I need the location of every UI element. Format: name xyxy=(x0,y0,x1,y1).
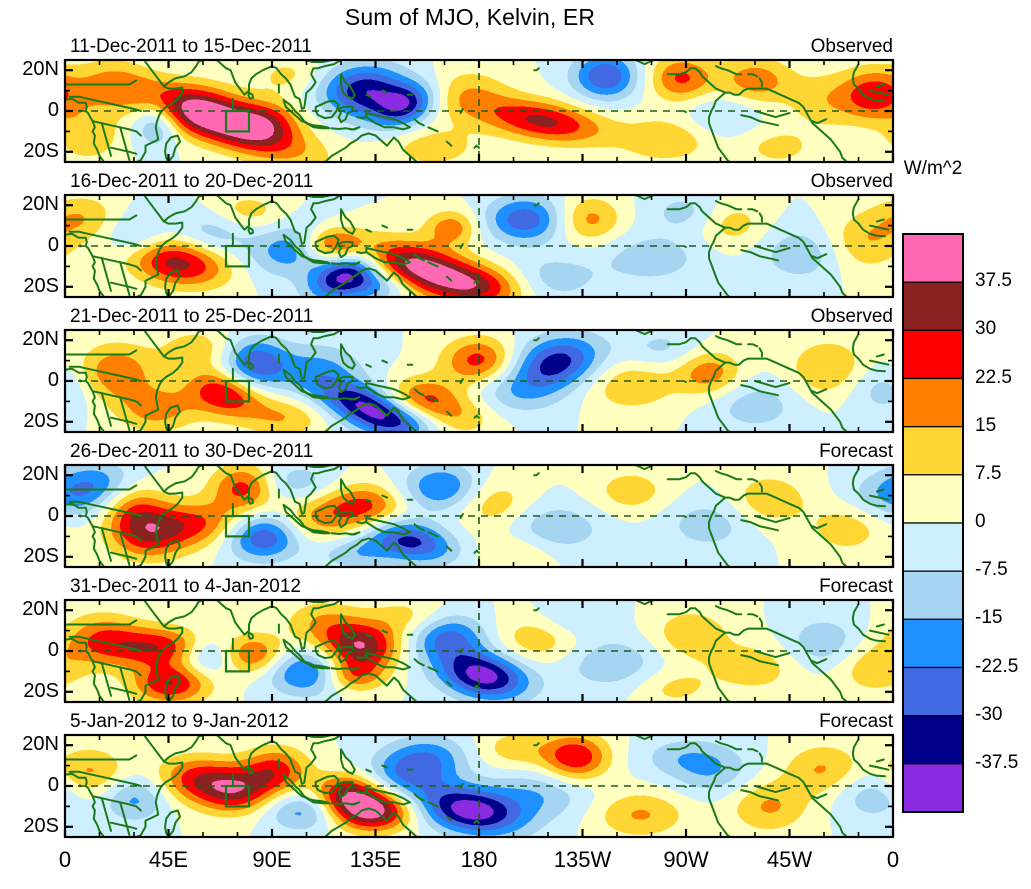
colorbar-tick-8: -22.5 xyxy=(975,657,1018,676)
panel-5-ylabel-0: 0 xyxy=(0,640,59,660)
panel-4-status: Forecast xyxy=(743,441,893,463)
colorbar-tick-3: 15 xyxy=(975,416,996,435)
colorbar-tick-5: 0 xyxy=(975,512,986,531)
panel-4-ylabel-0: 0 xyxy=(0,505,59,525)
panel-6-ylabel-20S: 20S xyxy=(0,816,59,836)
panel-3-ylabel-0: 0 xyxy=(0,370,59,390)
xaxis-label-1: 45E xyxy=(124,847,214,873)
panel-1-ylabel-0: 0 xyxy=(0,100,59,120)
panel-1-ylabel-20S: 20S xyxy=(0,141,59,161)
panel-6-ylabel-20N: 20N xyxy=(0,734,59,754)
panel-2-date-range: 16-Dec-2011 to 20-Dec-2011 xyxy=(70,171,313,193)
xaxis-label-4: 180 xyxy=(434,847,524,873)
panel-1-status: Observed xyxy=(743,36,893,58)
colorbar-tick-2: 22.5 xyxy=(975,368,1012,387)
panel-6-ylabel-0: 0 xyxy=(0,775,59,795)
colorbar-tick-9: -30 xyxy=(975,705,1002,724)
panel-3-status: Observed xyxy=(743,306,893,328)
panel-2-ylabel-0: 0 xyxy=(0,235,59,255)
colorbar-tick-0: 37.5 xyxy=(975,271,1012,290)
panel-5-ylabel-20N: 20N xyxy=(0,599,59,619)
xaxis-label-8: 0 xyxy=(848,847,938,873)
panel-4-ylabel-20S: 20S xyxy=(0,546,59,566)
colorbar-unit-label: W/m^2 xyxy=(863,158,1003,180)
xaxis-label-3: 135E xyxy=(331,847,421,873)
panel-3-ylabel-20N: 20N xyxy=(0,329,59,349)
panel-1-ylabel-20N: 20N xyxy=(0,59,59,79)
panel-1-date-range: 11-Dec-2011 to 15-Dec-2011 xyxy=(70,36,312,58)
colorbar-tick-6: -7.5 xyxy=(975,560,1008,579)
panel-6-date-range: 5-Jan-2012 to 9-Jan-2012 xyxy=(70,711,289,733)
panel-6-status: Forecast xyxy=(743,711,893,733)
panel-4-date-range: 26-Dec-2011 to 30-Dec-2011 xyxy=(70,441,313,463)
mjo-forecast-figure: Sum of MJO, Kelvin, ER 11-Dec-2011 to 15… xyxy=(0,0,1031,889)
panel-5-status: Forecast xyxy=(743,576,893,598)
xaxis-label-5: 135W xyxy=(538,847,628,873)
panel-3-ylabel-20S: 20S xyxy=(0,411,59,431)
colorbar-tick-7: -15 xyxy=(975,608,1002,627)
colorbar-tick-10: -37.5 xyxy=(975,753,1018,772)
xaxis-label-6: 90W xyxy=(641,847,731,873)
page-title: Sum of MJO, Kelvin, ER xyxy=(0,4,940,31)
colorbar-tick-4: 7.5 xyxy=(975,464,1001,483)
panel-5-ylabel-20S: 20S xyxy=(0,681,59,701)
xaxis-label-7: 45W xyxy=(745,847,835,873)
panel-2-ylabel-20N: 20N xyxy=(0,194,59,214)
panel-3-date-range: 21-Dec-2011 to 25-Dec-2011 xyxy=(70,306,313,328)
panel-5-date-range: 31-Dec-2011 to 4-Jan-2012 xyxy=(70,576,301,598)
xaxis-label-2: 90E xyxy=(227,847,317,873)
colorbar-tick-1: 30 xyxy=(975,319,996,338)
xaxis-label-0: 0 xyxy=(20,847,110,873)
panel-4-ylabel-20N: 20N xyxy=(0,464,59,484)
panel-2-ylabel-20S: 20S xyxy=(0,276,59,296)
